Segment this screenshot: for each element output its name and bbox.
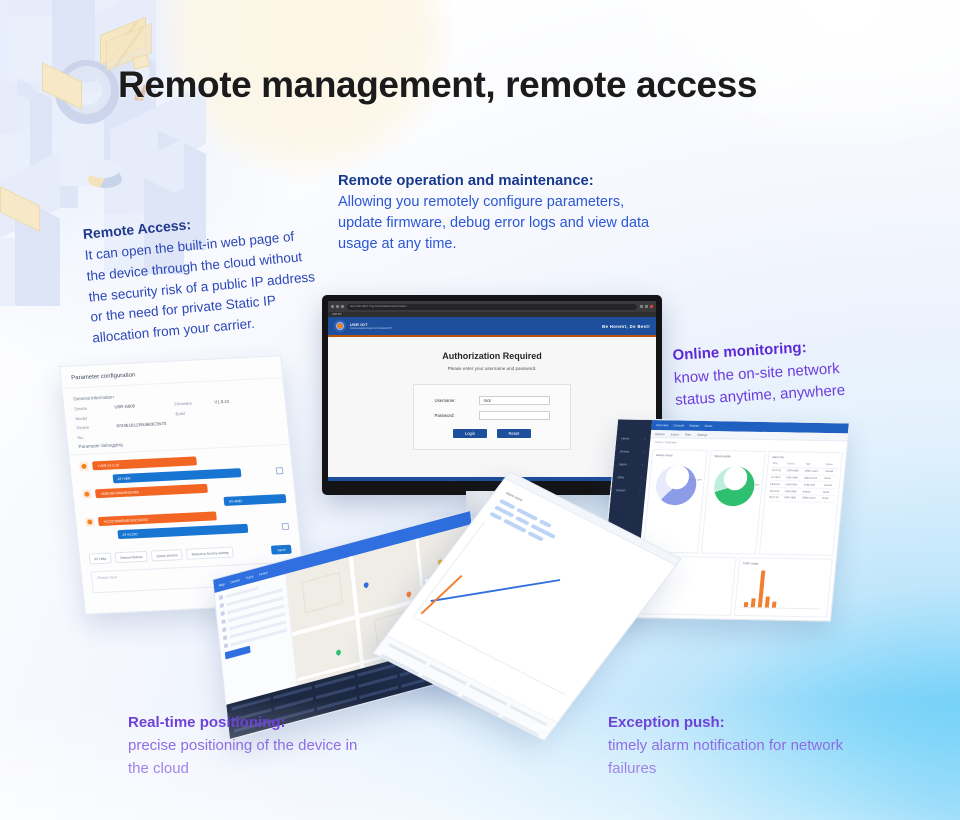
traffic-chart-card: Traffic usage (733, 557, 832, 617)
auth-subtitle: Please enter your username and password. (328, 366, 656, 371)
search-button[interactable] (225, 646, 251, 660)
site-footer: ©Jinan USR IOT Technology Limited http:/… (328, 477, 656, 481)
signal-quality-card: Signal quality Good 70% (701, 450, 766, 554)
caption-body: timely alarm notification for network fa… (608, 735, 858, 781)
map-tab-fence[interactable]: Fence (259, 570, 268, 576)
sidebar-item-alarm[interactable]: Alarm› (613, 457, 648, 471)
param-key: Model (75, 414, 116, 421)
card-title: Alarm list (772, 455, 839, 460)
caption-body: It can open the built-in web page of the… (84, 225, 325, 350)
caption-exception-push: Exception push: timely alarm notificatio… (608, 712, 858, 780)
caption-remote-access: Remote Access: It can open the built-in … (82, 203, 324, 350)
caption-remote-operation: Remote operation and maintenance: Allowi… (338, 171, 660, 254)
caption-heading: Exception push: (608, 712, 858, 735)
caption-online-monitoring: Online monitoring: know the on-site netw… (672, 333, 886, 413)
user-avatar-icon (79, 462, 89, 471)
topbar-item-monitor[interactable]: Monitor (689, 424, 699, 428)
caption-body: precise positioning of the device in the… (128, 735, 368, 781)
browser-tab-label: USR IOT (332, 313, 342, 316)
map-pin-icon[interactable] (335, 649, 342, 656)
param-value: USR-G809 (114, 403, 135, 409)
site-slogan: Be Honest, Do Best! (602, 324, 650, 329)
param-key: Build (175, 409, 216, 416)
monitor-bezel: http://192.168.0.7/cgi-bin/luci/admin/au… (322, 295, 662, 495)
usr-logo-icon (334, 320, 346, 332)
chat-message-in: AT+IMEI (223, 494, 286, 506)
chat-message-out: +VER:V1.0.10 (92, 456, 197, 470)
caption-body: Allowing you remotely configure paramete… (338, 192, 660, 254)
param-general-section: General information DeviceUSR-G809 Firmw… (62, 378, 288, 449)
table-row: 08:47:26USR-G806Offline alarmRead (768, 494, 835, 502)
desktop-monitor: http://192.168.0.7/cgi-bin/luci/admin/au… (322, 295, 662, 495)
send-button[interactable]: Send (271, 545, 292, 555)
chart-axis (742, 607, 820, 609)
map-pin-icon[interactable] (405, 591, 412, 598)
brand: USR IOT Communication Expert of Industri… (334, 320, 392, 332)
poster-canvas: Remote management, remote access http://… (0, 0, 960, 820)
param-key: Device (76, 423, 117, 430)
user-avatar-icon (85, 517, 95, 526)
sidebar-item-report[interactable]: Report› (611, 483, 646, 497)
param-field: DeviceUSR-G809 (74, 401, 175, 411)
browser-chrome: http://192.168.0.7/cgi-bin/luci/admin/au… (328, 301, 656, 312)
map-pin-icon[interactable] (363, 581, 370, 588)
browser-url-bar[interactable]: http://192.168.0.7/cgi-bin/luci/admin/au… (347, 304, 637, 310)
username-input[interactable]: root (479, 396, 550, 405)
sidebar-item-home[interactable]: Home› (616, 431, 651, 445)
breadcrumb-text: Home / Overview (655, 440, 677, 444)
map-tab-map[interactable]: Map (218, 582, 224, 588)
login-button[interactable]: Login (453, 429, 487, 438)
reset-button[interactable]: Reset (497, 429, 531, 438)
auth-page: Authorization Required Please enter your… (328, 337, 656, 481)
factory-reset-button[interactable]: Reboot to factory setting (186, 547, 234, 560)
traffic-bar-chart (738, 567, 828, 608)
alarm-table: Time Device Type Status 10:22:41USR-G809… (768, 461, 838, 503)
device-reboot-button[interactable]: Device Reboot (115, 551, 148, 564)
param-value: V1.0.10 (214, 399, 229, 405)
device-status-card: Device status Online 62% (643, 449, 708, 553)
at-command-console: +VER:V1.0.10 AT+VER +IMEI:86728403910246… (69, 444, 298, 541)
topbar-item-console[interactable]: Console (673, 423, 684, 427)
param-value: 8743E1B1139U6B3C3N70 (116, 421, 166, 428)
param-key: No. (77, 433, 118, 440)
username-label: Username: (435, 398, 479, 403)
topbar-item-overview[interactable]: Overview (656, 423, 669, 427)
donut-label: Online 62% (689, 479, 702, 482)
chat-message-out: +IMEI:867284039102460 (95, 484, 208, 498)
footer-copyright: ©Jinan USR IOT Technology Limited (449, 480, 495, 482)
alarm-list-card: Alarm list Time Device Type Status 10:22… (759, 451, 843, 556)
chart-title: Traffic usage (742, 561, 828, 566)
sidebar-item-data[interactable]: Data› (612, 470, 647, 484)
brand-tagline: Communication Expert of Industrial IOT (350, 327, 392, 330)
monitor-screen: http://192.168.0.7/cgi-bin/luci/admin/au… (328, 301, 656, 481)
map-tab-device[interactable]: Device (230, 577, 240, 584)
password-input[interactable] (479, 411, 550, 420)
username-row: Username: root (414, 396, 570, 405)
chat-message-out: +ICCID:898604B1092102392 (98, 511, 217, 526)
auth-title: Authorization Required (328, 351, 656, 361)
caption-heading: Real-time positioning: (128, 712, 368, 735)
signal-quality-donut (713, 466, 757, 507)
at-help-button[interactable]: AT Help (89, 553, 112, 565)
caption-heading: Remote operation and maintenance: (338, 171, 660, 192)
page-title: Remote management, remote access (118, 64, 757, 106)
param-toolbar: AT Help Device Reboot Query version Rebo… (79, 535, 301, 565)
sidebar-item-device[interactable]: Device› (615, 444, 650, 458)
dashboard-cards: Device status Online 62% Signal quality … (639, 446, 846, 559)
password-row: Password: (414, 411, 570, 420)
copy-icon[interactable] (282, 523, 290, 530)
login-form: Username: root Password: Login Reset (413, 384, 571, 450)
map-tab-track[interactable]: Track (245, 574, 253, 580)
form-buttons: Login Reset (414, 429, 570, 438)
toolbar-export[interactable]: Export (671, 432, 680, 436)
chat-message-in: AT+ICCID (117, 524, 248, 539)
window-controls[interactable] (640, 305, 653, 308)
caption-realtime-positioning: Real-time positioning: precise positioni… (128, 712, 368, 780)
copy-icon[interactable] (276, 467, 284, 474)
browser-nav-icons[interactable] (331, 305, 344, 308)
query-version-button[interactable]: Query version (151, 549, 183, 561)
site-header: USR IOT Communication Expert of Industri… (328, 317, 656, 337)
toolbar-settings[interactable]: Settings (697, 432, 708, 436)
param-field: FirmwareV1.0.10 (174, 397, 275, 407)
user-avatar-icon (82, 490, 92, 499)
topbar-item-alarm[interactable]: Alarm (704, 424, 712, 428)
chat-message-in: AT+VER (112, 468, 241, 483)
toolbar-refresh[interactable]: Refresh (655, 432, 665, 436)
param-key: Device (74, 404, 115, 411)
donut-label: Good 70% (748, 484, 760, 487)
card-title: Device status (656, 453, 703, 458)
toolbar-filter[interactable]: Filter (685, 432, 692, 436)
device-status-donut (655, 465, 699, 506)
password-label: Password: (435, 413, 479, 418)
param-key: Firmware (174, 400, 215, 407)
card-title: Signal quality (714, 454, 761, 459)
